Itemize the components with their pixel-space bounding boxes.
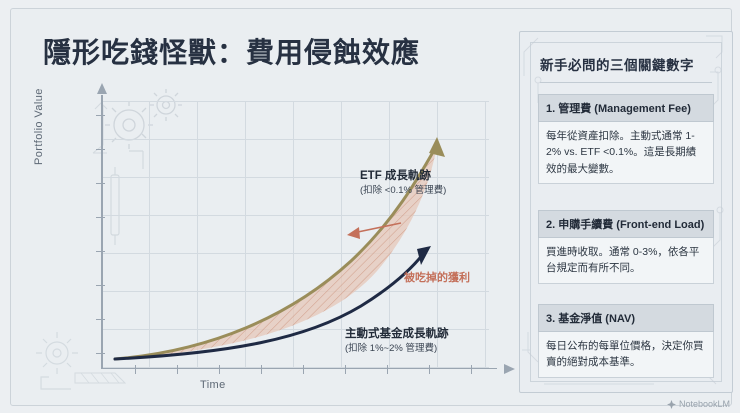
fee-erosion-chart: Portfolio Value Time ETF 成長軌跡 (扣除 <0.1% …: [35, 87, 505, 397]
key-number-item-3: 3. 基金淨值 (NAV) 每日公布的每單位價格，決定你買賣的絕對成本基準。: [538, 304, 714, 378]
item-1-body: 每年從資產扣除。主動式通常 1-2% vs. ETF <0.1%。這是長期績效的…: [538, 122, 714, 184]
active-arrowhead: [417, 246, 431, 265]
item-1-heading: 1. 管理費 (Management Fee): [538, 94, 714, 122]
key-number-item-2: 2. 申購手續費 (Front-end Load) 買進時收取。通常 0-3%，…: [538, 210, 714, 284]
item-3-heading: 3. 基金淨值 (NAV): [538, 304, 714, 332]
active-fund-curve-label: 主動式基金成長軌跡 (扣除 1%~2% 管理費): [345, 327, 449, 355]
y-axis: [101, 95, 103, 369]
panel-divider: [540, 82, 712, 83]
item-2-body: 買進時收取。通常 0-3%，依各平台規定而有所不同。: [538, 238, 714, 284]
y-axis-arrow-icon: [97, 83, 107, 94]
notebooklm-icon: [667, 400, 676, 409]
item-2-heading: 2. 申購手續費 (Front-end Load): [538, 210, 714, 238]
x-axis: [101, 368, 497, 370]
watermark-label: NotebookLM: [679, 399, 730, 409]
panel-title: 新手必問的三個關鍵數字: [540, 54, 694, 74]
etf-curve-label: ETF 成長軌跡 (扣除 <0.1% 管理費): [360, 169, 446, 197]
y-axis-label: Portfolio Value: [33, 88, 45, 165]
active-label-line2: (扣除 1%~2% 管理費): [345, 343, 449, 356]
key-numbers-panel: 新手必問的三個關鍵數字 1. 管理費 (Management Fee) 每年從資…: [519, 31, 733, 393]
watermark: NotebookLM: [667, 399, 730, 409]
x-axis-arrow-icon: [504, 364, 515, 374]
infographic-root: 隱形吃錢怪獸：費用侵蝕效應: [0, 0, 740, 413]
page-title: 隱形吃錢怪獸：費用侵蝕效應: [43, 31, 420, 71]
active-label-line1: 主動式基金成長軌跡: [345, 327, 449, 343]
eroded-gains-annotation: 被吃掉的獲利: [404, 269, 470, 285]
annotation-arrowhead: [347, 227, 360, 239]
etf-label-line2: (扣除 <0.1% 管理費): [360, 185, 446, 198]
etf-label-line1: ETF 成長軌跡: [360, 169, 446, 185]
x-axis-label: Time: [200, 379, 226, 391]
item-3-body: 每日公布的每單位價格，決定你買賣的絕對成本基準。: [538, 332, 714, 378]
main-card: 隱形吃錢怪獸：費用侵蝕效應: [10, 8, 732, 406]
key-number-item-1: 1. 管理費 (Management Fee) 每年從資產扣除。主動式通常 1-…: [538, 94, 714, 184]
